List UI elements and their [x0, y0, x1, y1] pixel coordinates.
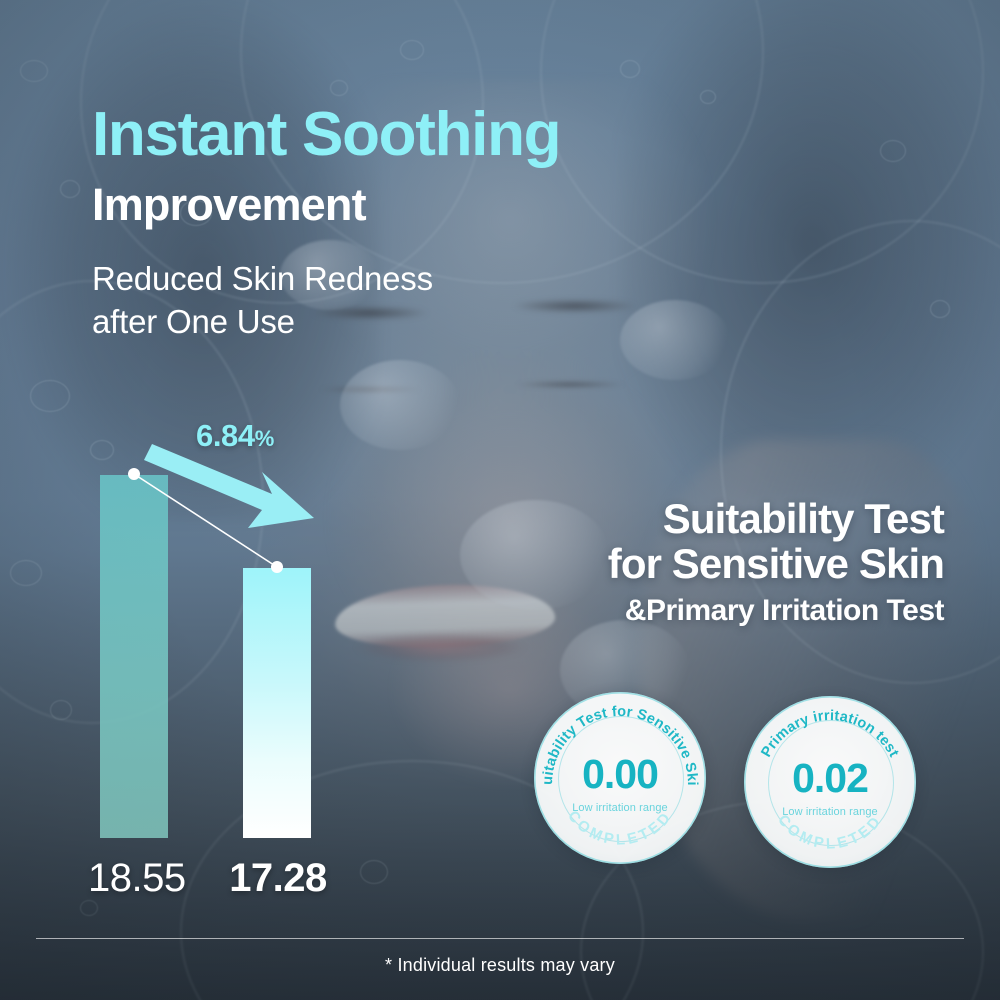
badge-arc-top-label: Primary irritation test	[758, 708, 901, 760]
badge-score-note: Low irritation range	[744, 806, 916, 818]
right-headline-block: Suitability Test for Sensitive Skin &Pri…	[608, 496, 944, 627]
footer-divider	[36, 938, 964, 939]
badge-primary-irritation-test: Primary irritation test COMPLETED 0.02 L…	[744, 696, 916, 868]
headline-line-1: Instant Soothing	[92, 104, 560, 166]
footer-disclaimer: * Individual results may vary	[0, 955, 1000, 976]
badge-suitability-test: Suitability Test for Sensitive Skin COMP…	[534, 692, 706, 864]
headline-line-2: Improvement	[92, 182, 560, 227]
subheadline-line-2: after One Use	[92, 301, 433, 344]
right-headline-line-3: &Primary Irritation Test	[608, 595, 944, 627]
badge-score-note: Low irritation range	[534, 802, 706, 814]
promo-infographic: Instant Soothing Improvement Reduced Ski…	[0, 0, 1000, 1000]
badge-score-value: 0.02	[744, 758, 916, 799]
right-headline-line-2: for Sensitive Skin	[608, 541, 944, 586]
svg-text:Primary irritation test: Primary irritation test	[758, 708, 901, 760]
subheadline-block: Reduced Skin Redness after One Use	[92, 258, 433, 344]
headline-block: Instant Soothing Improvement	[92, 104, 560, 227]
subheadline-line-1: Reduced Skin Redness	[92, 258, 433, 301]
right-headline-line-1: Suitability Test	[608, 496, 944, 541]
badge-score-value: 0.00	[534, 754, 706, 795]
